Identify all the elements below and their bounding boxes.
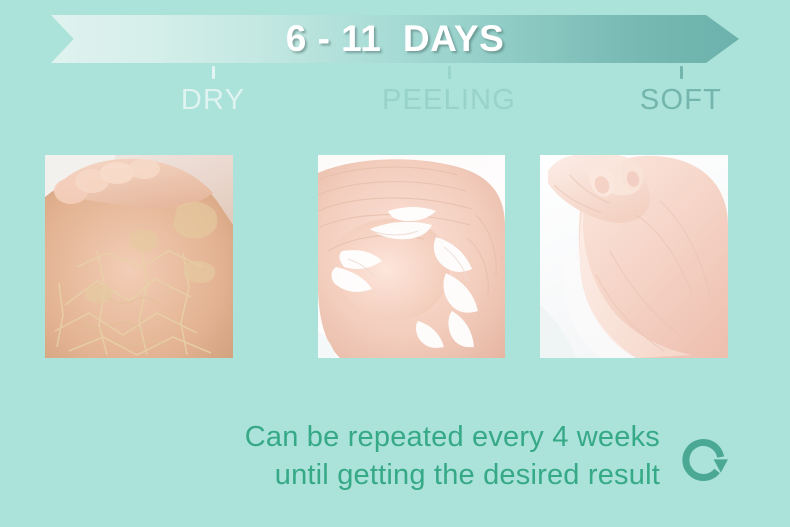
infographic-root: 6 - 11 DAYS DRY PEELING SOFT <box>0 0 790 527</box>
repeat-circular-arrow-glyph <box>674 430 736 492</box>
footer-line-2: until getting the desired result <box>150 456 660 494</box>
photo-soft-foot <box>540 155 728 358</box>
footer-line-1: Can be repeated every 4 weeks <box>150 418 660 456</box>
repeat-circular-arrow-icon <box>674 430 736 492</box>
photo-peeling-foot <box>318 155 505 358</box>
photo-dry-foot-image <box>45 155 233 358</box>
footer-note: Can be repeated every 4 weeks until gett… <box>150 418 660 494</box>
photo-soft-foot-image <box>540 155 728 358</box>
photo-peeling-foot-image <box>318 155 505 358</box>
photo-dry-foot <box>45 155 233 358</box>
